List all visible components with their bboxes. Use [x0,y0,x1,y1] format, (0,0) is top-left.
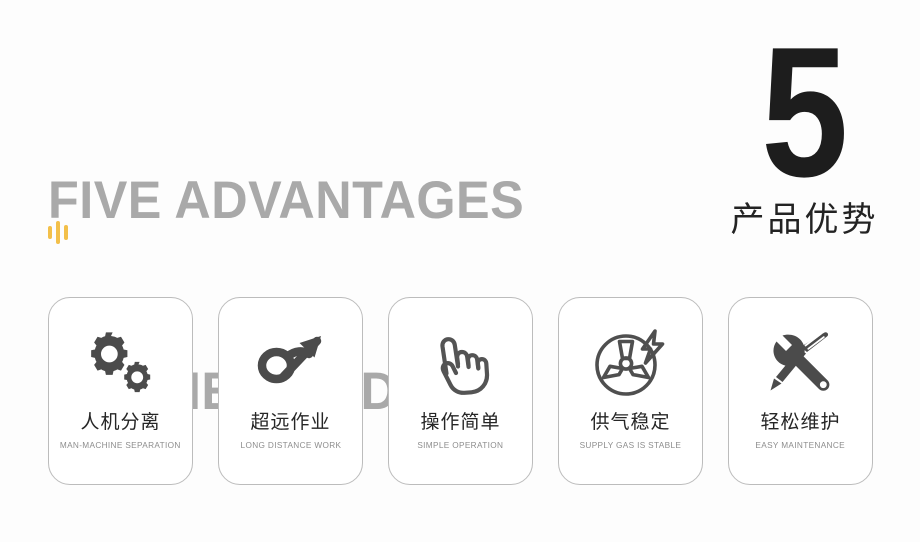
advantage-card-list: 人机分离 MAN-MACHINE SEPARATION 超远作业 LONG DI… [48,297,873,485]
pointing-hand-icon [430,324,492,400]
advantage-card-subtitle: EASY MAINTENANCE [756,440,846,450]
gas-fan-bolt-icon [592,324,670,400]
gears-icon [85,324,157,400]
advantage-card-long-distance-work[interactable]: 超远作业 LONG DISTANCE WORK [218,297,363,485]
bar-accent-icon [48,219,82,245]
advantage-card-easy-maintenance[interactable]: 轻松维护 EASY MAINTENANCE [728,297,873,485]
advantage-card-simple-operation[interactable]: 操作简单 SIMPLE OPERATION [388,297,533,485]
advantage-card-subtitle: LONG DISTANCE WORK [240,440,341,450]
advantage-card-title: 人机分离 [80,412,160,433]
advantage-count-block: 5 产品优势 [708,26,898,239]
advantage-count-number: 5 [719,26,886,198]
advantage-card-title: 供气稳定 [590,412,670,433]
advantage-card-subtitle: MAN-MACHINE SEPARATION [60,440,181,450]
long-distance-arrow-icon [253,324,329,400]
advantage-card-subtitle: SIMPLE OPERATION [418,440,504,450]
bar-accent-segment-3 [64,225,68,240]
bar-accent-segment-1 [48,226,52,239]
advantage-card-supply-gas-is-stable[interactable]: 供气稳定 SUPPLY GAS IS STABLE [558,297,703,485]
advantage-card-man-machine-separation[interactable]: 人机分离 MAN-MACHINE SEPARATION [48,297,193,485]
advantage-card-subtitle: SUPPLY GAS IS STABLE [580,440,682,450]
advantage-card-title: 轻松维护 [760,412,840,433]
advantage-card-title: 操作简单 [420,412,500,433]
headline-line-1: FIVE ADVANTAGES [48,169,637,233]
slide-root: FIVE ADVANTAGES OF THE PRODUCT 5 产品优势 [0,0,920,542]
advantage-card-title: 超远作业 [250,412,330,433]
bar-accent-segment-2 [56,221,60,244]
wrench-screwdriver-icon [764,324,838,400]
